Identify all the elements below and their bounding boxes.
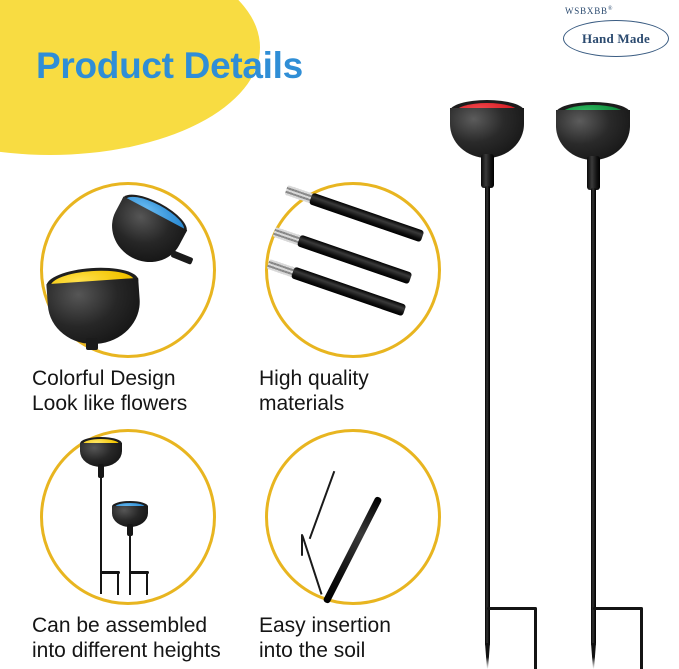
red-stake-foot-arm — [487, 607, 537, 610]
red-bowl-exterior — [450, 108, 524, 158]
page-title: Product Details — [36, 45, 303, 87]
brand-name: WSBXBB® — [565, 6, 613, 16]
green-stake-tip — [591, 643, 596, 669]
green-stake-connector — [587, 156, 600, 190]
feature-grid: Colorful Design Look like flowers Hig — [0, 178, 470, 669]
blue-bowl-stem — [170, 250, 193, 265]
two-bowls-illustration — [40, 182, 216, 358]
hand-made-label: Hand Made — [582, 31, 650, 47]
green-stake-foot-arm — [593, 607, 643, 610]
blue-stake-rod — [129, 533, 131, 595]
feature-colorful-design: Colorful Design Look like flowers — [0, 178, 235, 423]
green-bowl-exterior — [556, 110, 630, 160]
yellow-stake-bowl — [80, 437, 122, 467]
pointed-stake-rod — [323, 496, 383, 604]
trademark-symbol: ® — [608, 6, 613, 12]
blue-bowl-exterior — [100, 196, 187, 274]
green-stake-foot-leg — [640, 609, 643, 669]
blue-stake-foot-leg — [146, 571, 148, 595]
red-stake-tip — [485, 643, 490, 669]
brand-name-text: WSBXBB — [565, 6, 608, 16]
ground-stake-illustration — [265, 429, 441, 605]
green-bowl — [556, 102, 630, 160]
threaded-rods-illustration — [265, 182, 441, 358]
two-stakes-illustration — [40, 429, 216, 605]
wire-lower-arm — [301, 535, 322, 595]
red-stake-foot-leg — [534, 609, 537, 669]
hand-made-badge: Hand Made — [563, 20, 669, 57]
feature-caption: Easy insertion into the soil — [259, 613, 391, 663]
red-bowl — [450, 100, 524, 158]
product-details-infographic: Product Details WSBXBB® Hand Made — [0, 0, 679, 669]
yellow-bowl — [45, 265, 142, 347]
yellow-bowl-stem — [86, 338, 98, 350]
blue-bowl — [100, 187, 193, 276]
red-stake-rod — [485, 186, 490, 646]
yellow-bowl-exterior — [46, 278, 142, 347]
feature-caption: Can be assembled into different heights — [32, 613, 221, 663]
red-stake-connector — [481, 154, 494, 188]
brand-logo: WSBXBB® Hand Made — [559, 6, 671, 64]
yellow-stake-foot-leg — [117, 571, 119, 595]
feature-adjustable-heights: Can be assembled into different heights — [0, 425, 235, 669]
feature-caption: Colorful Design Look like flowers — [32, 366, 187, 416]
feature-caption: High quality materials — [259, 366, 369, 416]
wire-upper-arm — [309, 471, 336, 539]
rod-shaft — [309, 193, 424, 243]
green-stake-rod — [591, 188, 596, 646]
product-photo — [430, 60, 679, 669]
yellow-stake-rod — [100, 476, 102, 594]
